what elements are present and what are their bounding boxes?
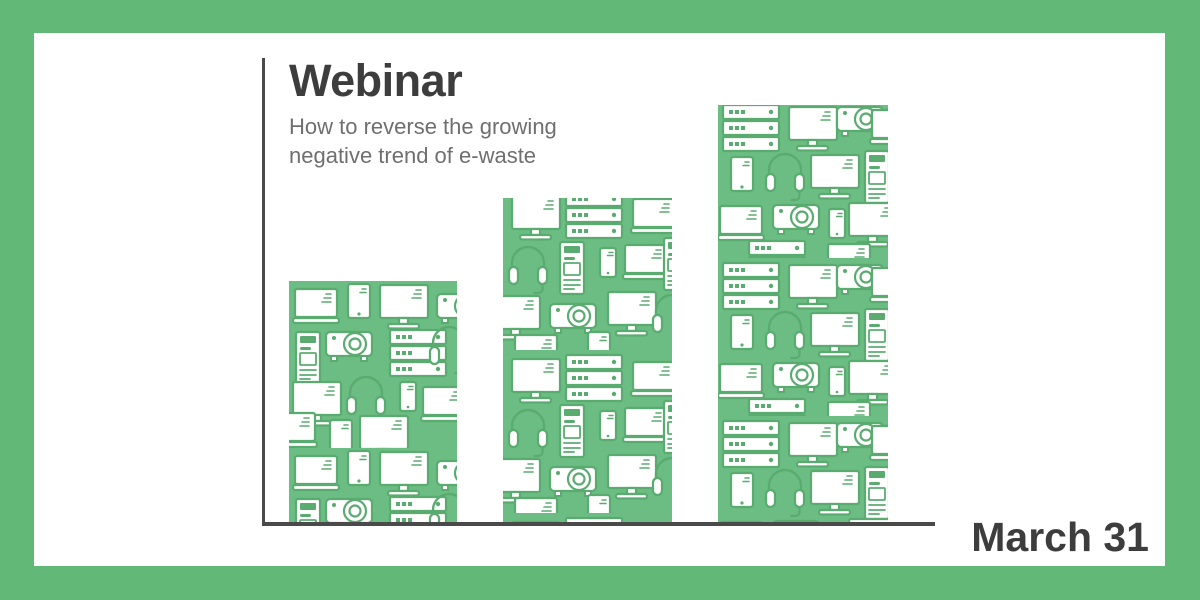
banner-card: Webinar How to reverse the growing negat… [34,33,1165,566]
bar-3 [718,105,888,522]
bar-2 [503,198,672,522]
event-date: March 31 [971,514,1149,561]
page-subtitle: How to reverse the growing negative tren… [289,112,709,171]
headings-block: Webinar How to reverse the growing negat… [289,57,709,170]
x-axis-line [262,522,935,526]
y-axis-line [262,58,265,525]
page-title: Webinar [289,57,709,106]
webinar-banner: Webinar How to reverse the growing negat… [0,0,1200,600]
bar-2-pattern [503,198,672,522]
bar-3-pattern [718,105,888,522]
bar-1-pattern [289,281,457,522]
bar-1 [289,281,457,522]
